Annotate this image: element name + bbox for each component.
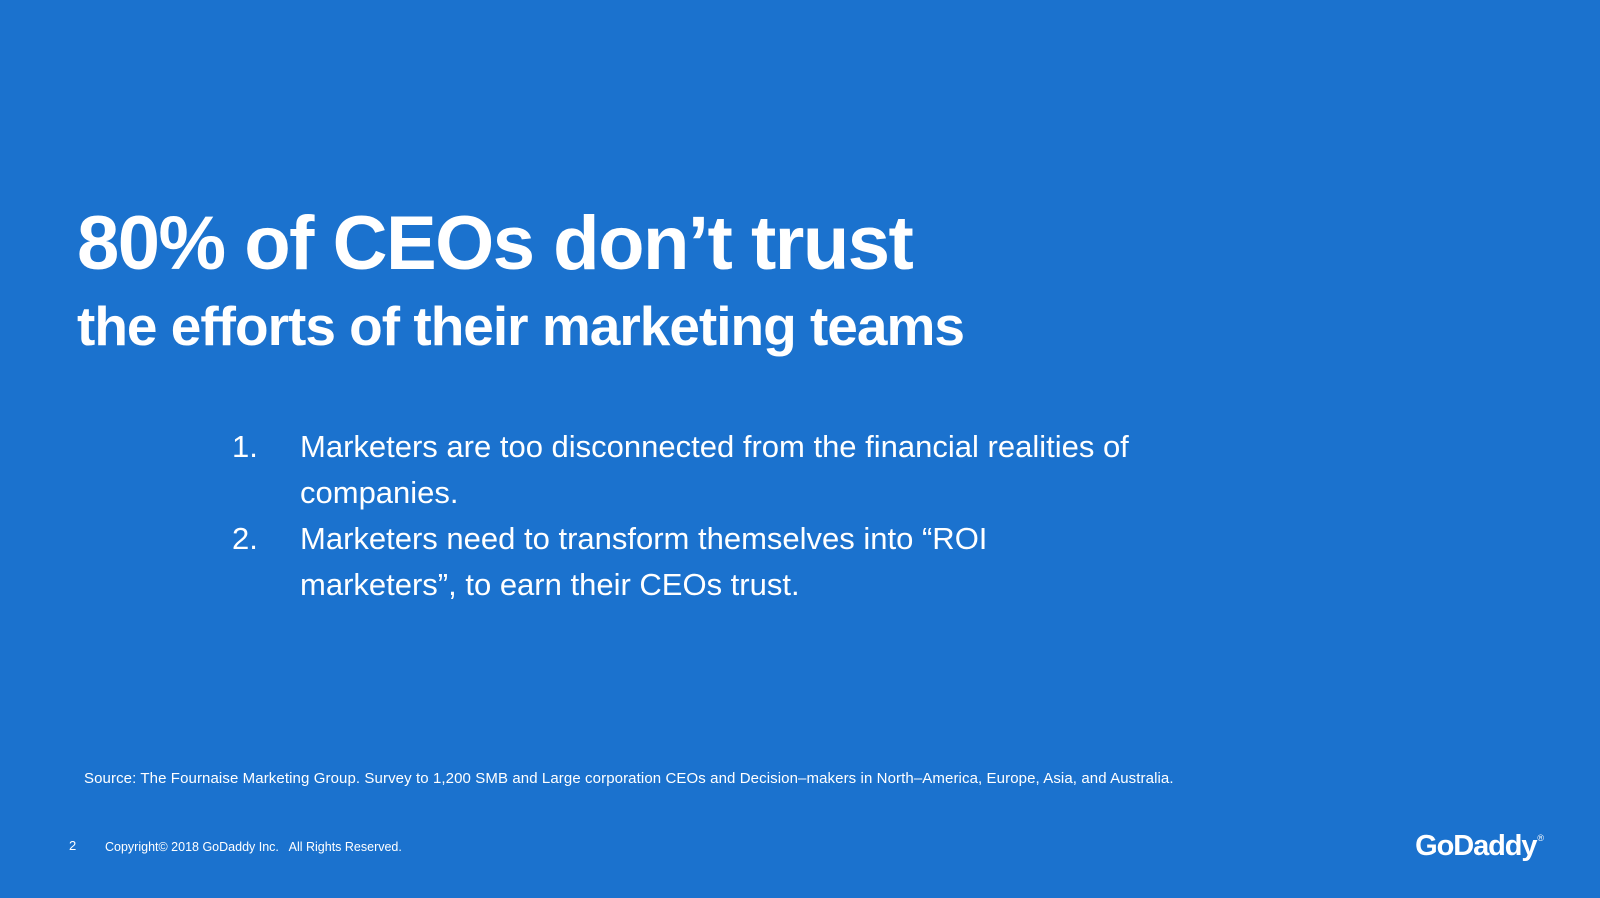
list-item-marker: 1. bbox=[232, 424, 300, 470]
page-title: 80% of CEOs don’t trust the efforts of t… bbox=[77, 202, 1177, 357]
registered-trademark-icon: ® bbox=[1537, 832, 1544, 844]
headline-line-2: the efforts of their marketing teams bbox=[77, 295, 1177, 357]
list-item-text: Marketers are too disconnected from the … bbox=[300, 424, 1145, 516]
godaddy-logo: GoDaddy ® bbox=[1415, 830, 1544, 862]
numbered-list: 1. Marketers are too disconnected from t… bbox=[232, 424, 1192, 608]
list-item-text: Marketers need to transform themselves i… bbox=[300, 516, 1145, 608]
list-item: 2. Marketers need to transform themselve… bbox=[232, 516, 1192, 608]
copyright-notice: Copyright© 2018 GoDaddy Inc. All Rights … bbox=[105, 838, 402, 856]
godaddy-wordmark: GoDaddy bbox=[1415, 830, 1536, 862]
slide-canvas: 80% of CEOs don’t trust the efforts of t… bbox=[0, 0, 1600, 898]
list-item-marker: 2. bbox=[232, 516, 300, 562]
page-number: 2 bbox=[69, 837, 76, 855]
headline-line-1: 80% of CEOs don’t trust bbox=[77, 202, 1177, 286]
source-citation: Source: The Fournaise Marketing Group. S… bbox=[84, 768, 1174, 790]
list-item: 1. Marketers are too disconnected from t… bbox=[232, 424, 1192, 516]
